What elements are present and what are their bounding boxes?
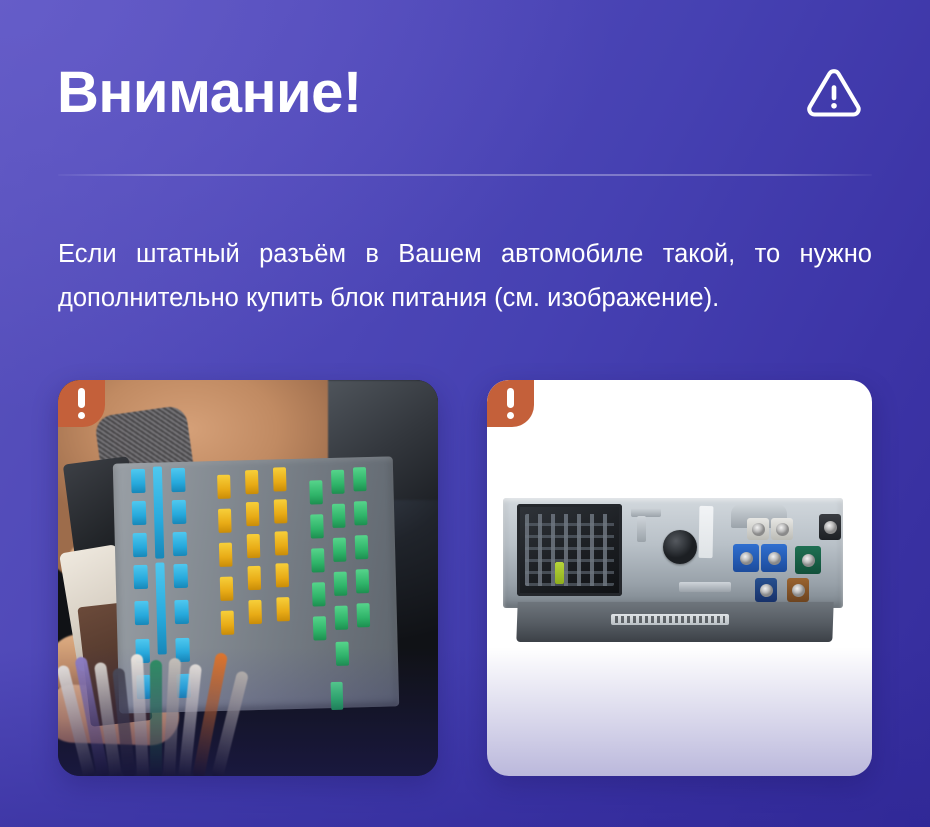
oem-connector-photo <box>58 380 438 776</box>
image-gallery <box>58 380 872 776</box>
page-title: Внимание! <box>57 64 362 122</box>
coax-connector-navy <box>755 578 777 602</box>
coax-connector-black <box>819 514 841 540</box>
module-barcode-label <box>611 614 729 625</box>
coax-connector-blue <box>733 544 759 572</box>
exclamation-icon <box>507 388 514 419</box>
header: Внимание! <box>57 47 873 139</box>
module-clip <box>637 516 646 542</box>
power-supply-module-card[interactable] <box>487 380 872 776</box>
wire-bundle <box>58 650 322 776</box>
coax-connector-green <box>795 546 821 574</box>
green-latch-icon <box>555 562 564 584</box>
coax-connector-blue <box>761 544 787 572</box>
coax-connector-brown <box>787 578 809 602</box>
coax-connector-white <box>747 518 769 540</box>
warning-text-line-2: дополнительно купить блок питания (см. и… <box>58 276 872 320</box>
module-sticker <box>699 506 714 558</box>
oem-connector-photo-card[interactable] <box>58 380 438 776</box>
header-divider <box>58 174 872 176</box>
module-connector-block <box>517 504 622 596</box>
attention-badge <box>58 380 105 427</box>
warning-triangle-icon <box>803 62 865 124</box>
exclamation-icon <box>78 388 85 419</box>
warning-text-line-1: Если штатный разъём в Вашем автомобиле т… <box>58 232 872 276</box>
warning-banner: Внимание! Если штатный разъём в Вашем ав… <box>0 0 930 827</box>
attention-badge <box>487 380 534 427</box>
module-knob <box>663 530 697 564</box>
module-clip <box>631 508 661 517</box>
power-supply-module-photo <box>503 498 855 648</box>
warning-text: Если штатный разъём в Вашем автомобиле т… <box>58 232 872 320</box>
coax-connector-white <box>771 518 793 540</box>
module-clip <box>679 582 731 592</box>
